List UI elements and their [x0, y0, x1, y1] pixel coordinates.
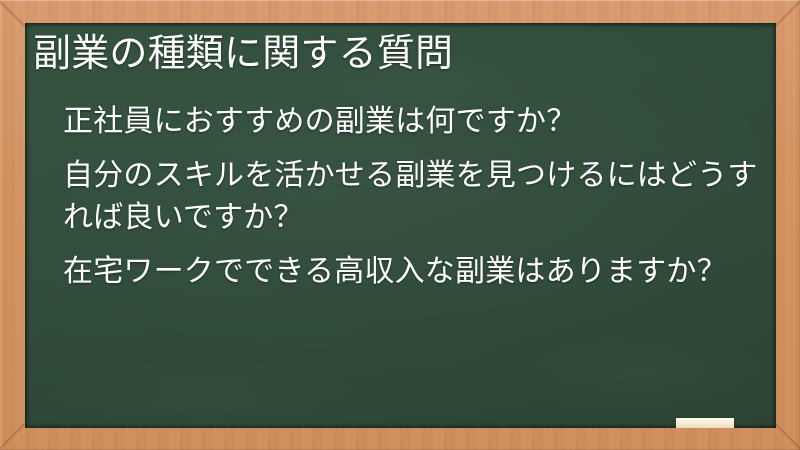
body-line: 正社員におすすめの副業は何ですか？ — [63, 101, 762, 144]
chalkboard-surface: 副業の種類に関する質問 正社員におすすめの副業は何ですか？ 自分のスキルを活かせ… — [25, 23, 776, 428]
body-line: 在宅ワークでできる高収入な副業はありますか？ — [63, 251, 762, 294]
slide-title: 副業の種類に関する質問 — [33, 33, 756, 76]
slide-body-list: 正社員におすすめの副業は何ですか？ 自分のスキルを活かせる副業を見つけるにはどう… — [63, 101, 762, 293]
chalk-stick-icon — [676, 418, 734, 428]
blackboard-slide: 副業の種類に関する質問 正社員におすすめの副業は何ですか？ 自分のスキルを活かせ… — [0, 0, 800, 450]
body-line: 自分のスキルを活かせる副業を見つけるにはどうすれば良いですか？ — [63, 155, 762, 240]
